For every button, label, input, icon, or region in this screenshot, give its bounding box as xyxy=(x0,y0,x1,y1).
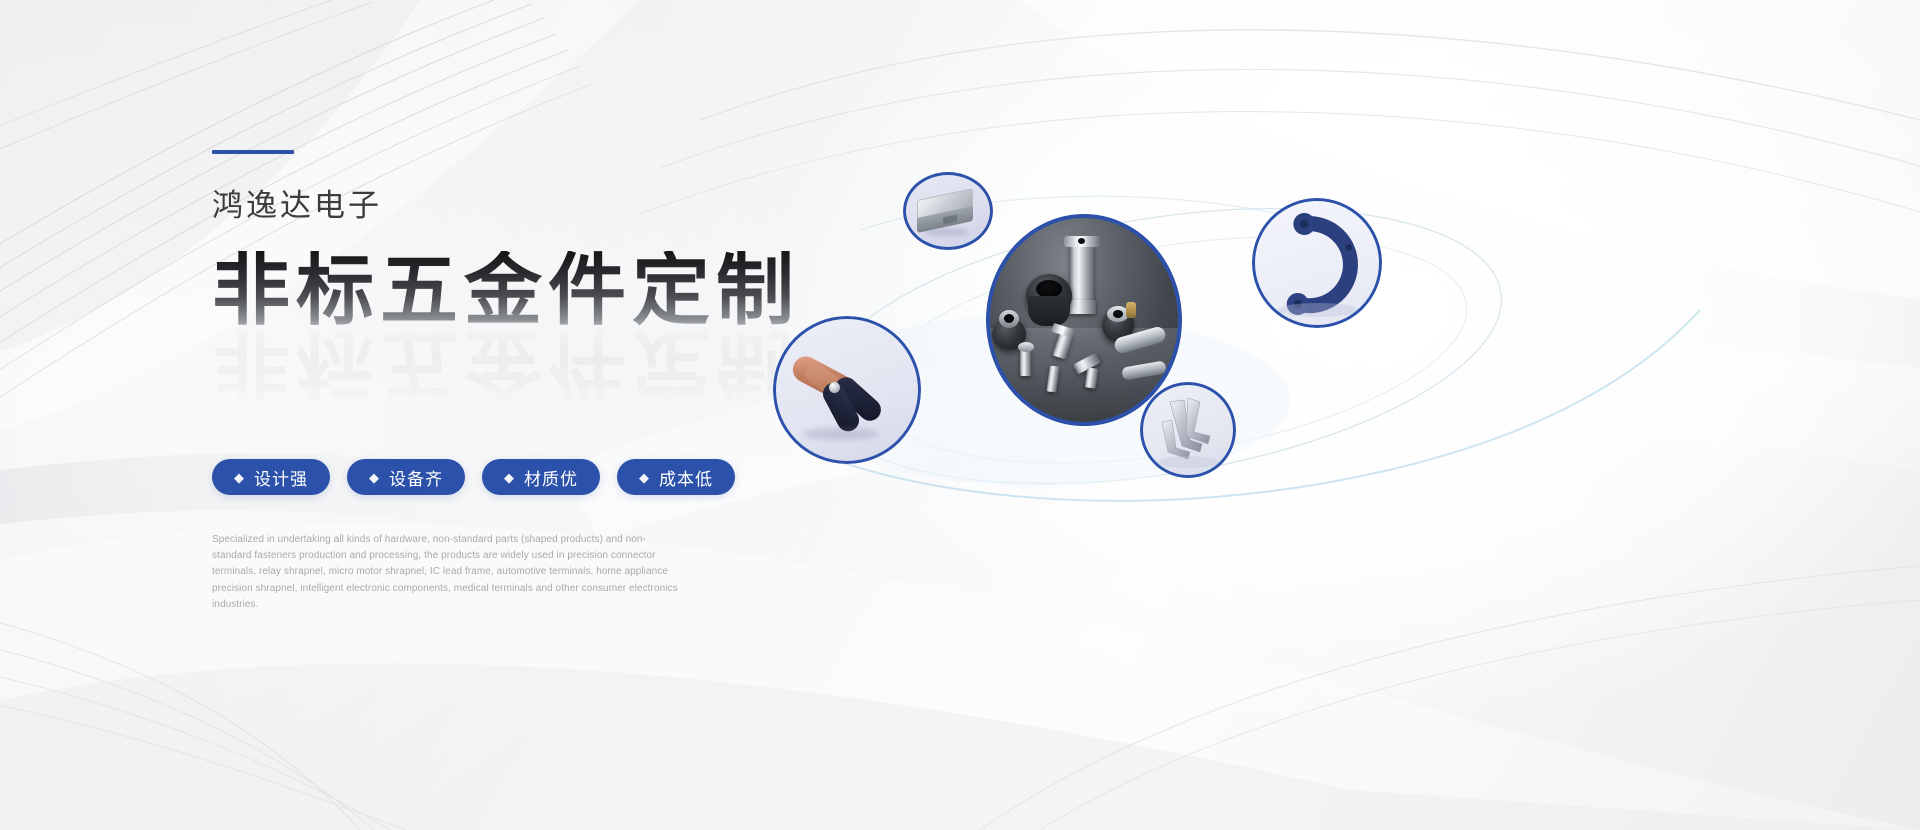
feature-badge-label: 设备齐 xyxy=(389,465,443,490)
feature-badge-label: 成本低 xyxy=(659,465,713,490)
bubble-bent-metal-brackets[interactable] xyxy=(1140,382,1236,478)
feature-badge-equipment[interactable]: ◆ 设备齐 xyxy=(347,459,465,495)
product-photo-enclosure-box xyxy=(903,172,993,250)
feature-badge-label: 材质优 xyxy=(524,465,578,490)
bracket-shapes xyxy=(1140,382,1236,478)
accent-rule xyxy=(212,150,294,154)
e-clip-shape xyxy=(1252,198,1382,328)
feature-badge-design[interactable]: ◆ 设计强 xyxy=(212,459,330,495)
headline-reflection: 非标五金件定制 xyxy=(212,325,800,403)
diamond-icon: ◆ xyxy=(234,471,245,484)
bubble-battery-clamp[interactable] xyxy=(773,316,921,464)
diamond-icon: ◆ xyxy=(504,471,515,484)
diamond-icon: ◆ xyxy=(369,471,380,484)
product-bubble-cluster xyxy=(740,150,1860,530)
bubble-e-clip-retaining-ring[interactable] xyxy=(1252,198,1382,328)
diamond-icon: ◆ xyxy=(639,471,650,484)
feature-badge-cost[interactable]: ◆ 成本低 xyxy=(617,459,735,495)
description-paragraph: Specialized in undertaking all kinds of … xyxy=(212,532,680,613)
bubble-metal-enclosure-box[interactable] xyxy=(903,172,993,250)
product-photo-battery-clamp xyxy=(773,316,921,464)
feature-badge-material[interactable]: ◆ 材质优 xyxy=(482,459,600,495)
product-photo-brackets xyxy=(1140,382,1236,478)
feature-badge-label: 设计强 xyxy=(254,465,308,490)
hero-banner: 鸿逸达电子 非标五金件定制 非标五金件定制 ◆ 设计强 ◆ 设备齐 ◆ 材质优 … xyxy=(0,0,1920,830)
product-photo-e-clip xyxy=(1252,198,1382,328)
